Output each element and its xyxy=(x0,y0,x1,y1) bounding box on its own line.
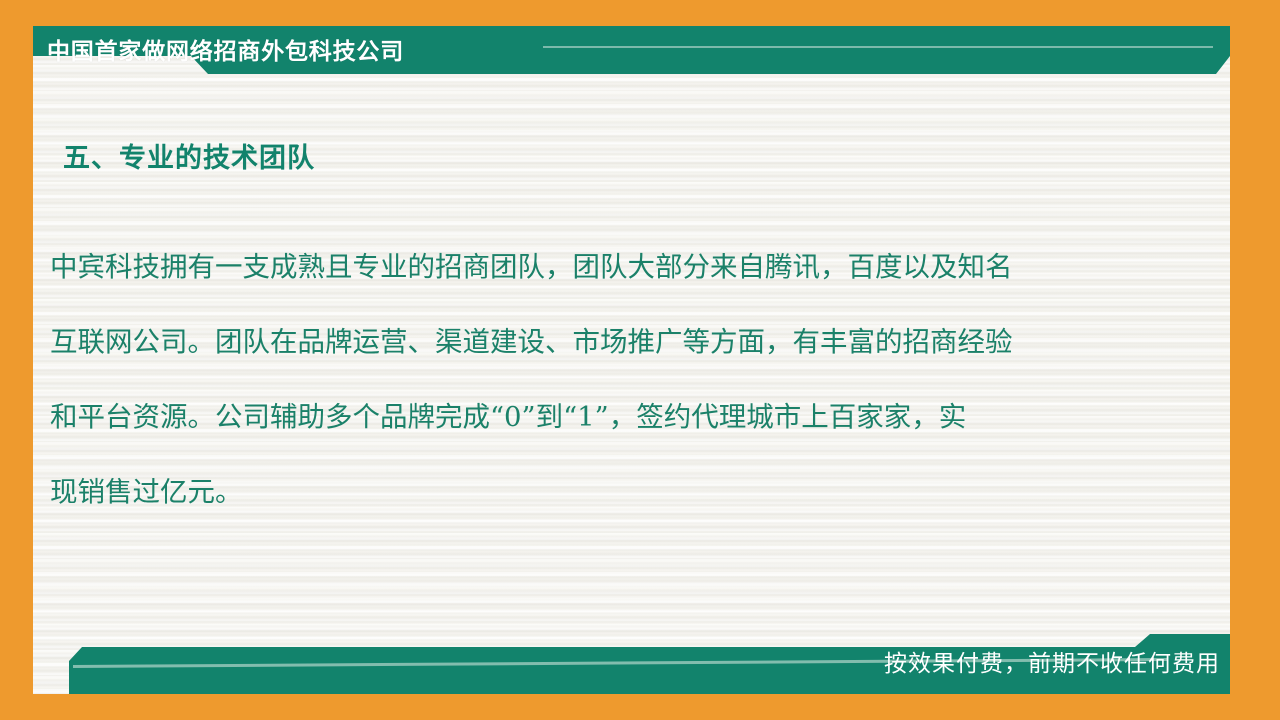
body-line: 中宾科技拥有一支成熟且专业的招商团队，团队大部分来自腾讯，百度以及知名 xyxy=(50,230,1200,305)
body-line: 和平台资源。公司辅助多个品牌完成“0”到“1”，签约代理城市上百家家，实 xyxy=(50,380,1200,455)
section-heading: 五、专业的技术团队 xyxy=(63,136,315,175)
slide-content: 五、专业的技术团队 中宾科技拥有一支成熟且专业的招商团队，团队大部分来自腾讯，百… xyxy=(33,74,1230,634)
body-line: 互联网公司。团队在品牌运营、渠道建设、市场推广等方面，有丰富的招商经验 xyxy=(50,305,1200,380)
header-title: 中国首家做网络招商外包科技公司 xyxy=(47,36,404,66)
body-line: 现销售过亿元。 xyxy=(50,455,1200,530)
header-banner-hairline xyxy=(543,46,1213,48)
footer-tagline: 按效果付费，前期不收任何费用 xyxy=(884,648,1220,678)
slide-root: 中国首家做网络招商外包科技公司 五、专业的技术团队 中宾科技拥有一支成熟且专业的… xyxy=(0,0,1280,720)
body-paragraph: 中宾科技拥有一支成熟且专业的招商团队，团队大部分来自腾讯，百度以及知名 互联网公… xyxy=(50,230,1200,530)
